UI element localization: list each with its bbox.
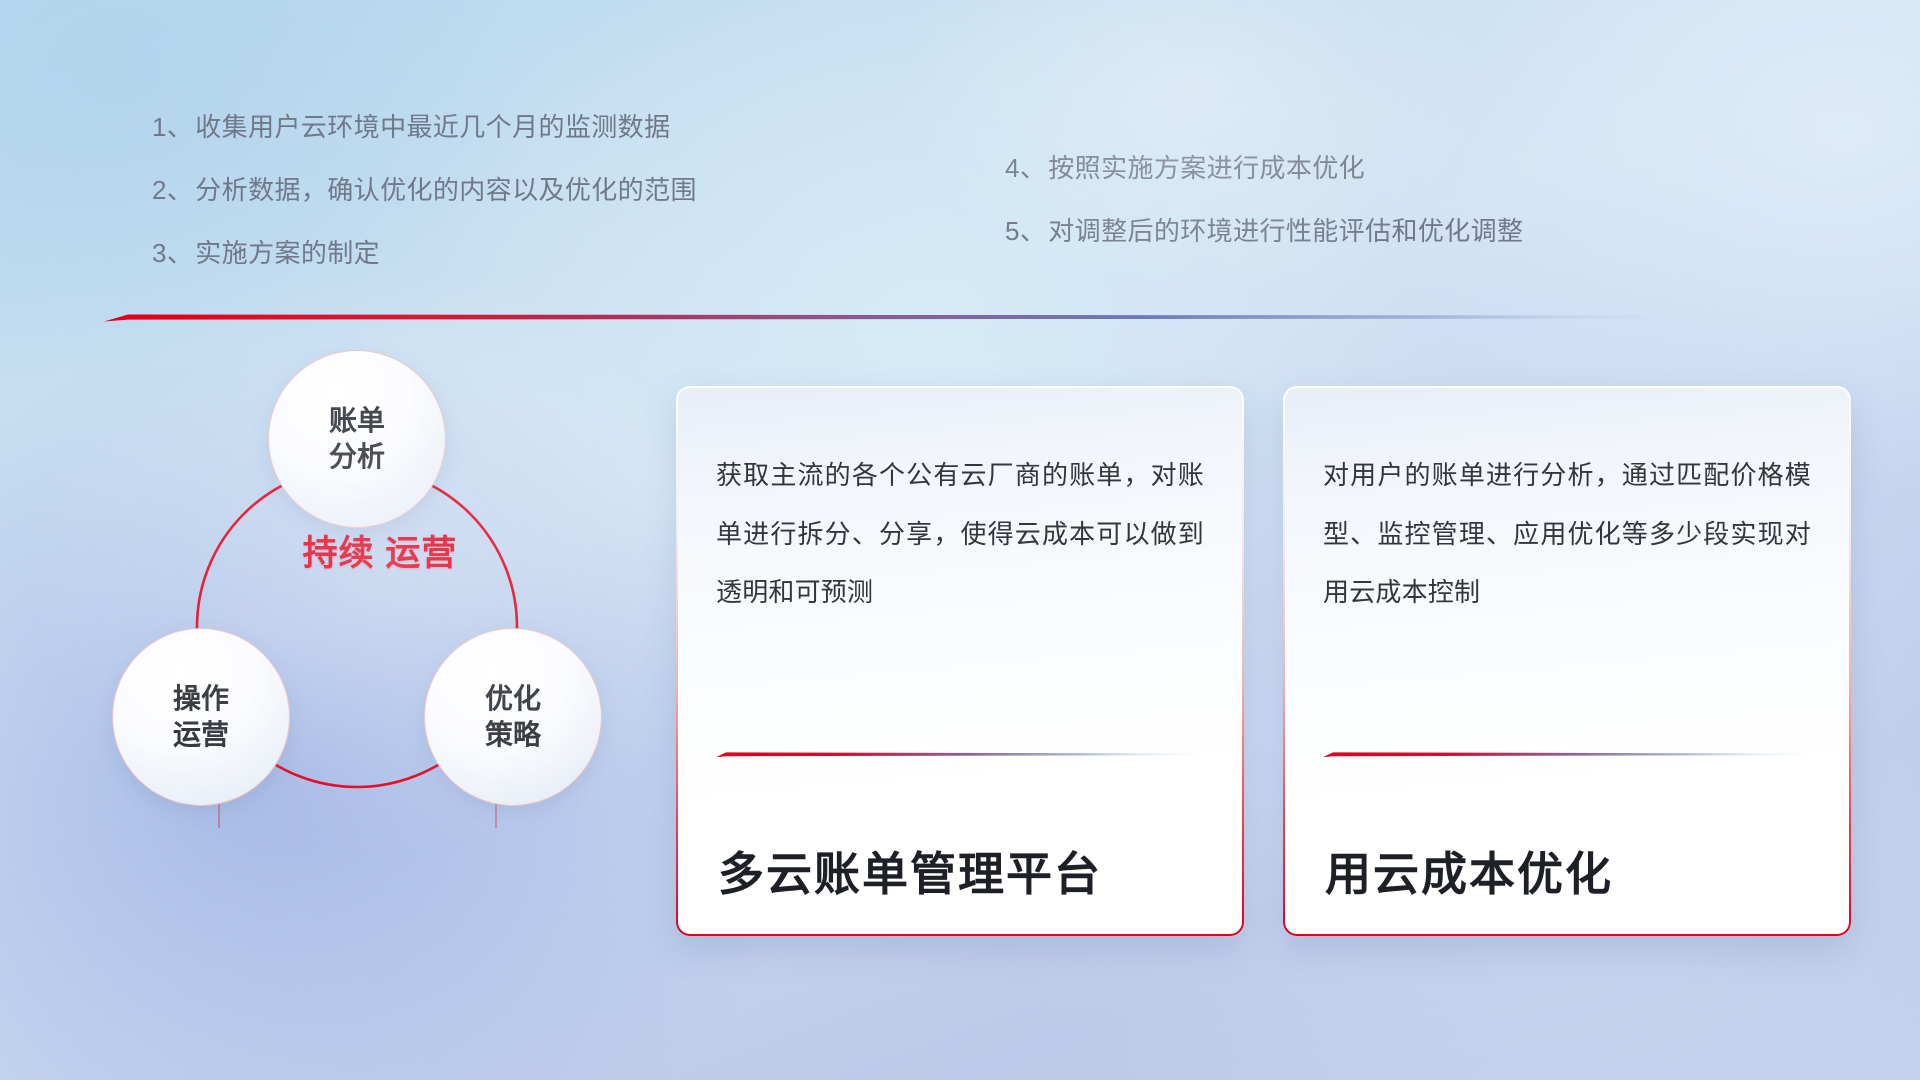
step-number-4: 4、	[1005, 153, 1046, 183]
bubble-optimize-strategy-line-1: 优化	[485, 681, 541, 717]
step-text-4: 按照实施方案进行成本优化	[1048, 153, 1365, 183]
bubble-optimize-strategy[interactable]: 优化 策略	[424, 628, 602, 806]
step-item-5: 5、对调整后的环境进行性能评估和优化调整	[1005, 218, 1523, 244]
continuous-operation-diagram: 持续 运营 账单 分析 操作 运营 优化 策略	[96, 342, 656, 962]
slide-canvas: 1、收集用户云环境中最近几个月的监测数据 2、分析数据，确认优化的内容以及优化的…	[0, 0, 1920, 1080]
section-divider-shape	[104, 310, 1674, 324]
step-number-5: 5、	[1005, 216, 1046, 246]
step-item-3: 3、实施方案的制定	[152, 240, 697, 266]
center-label-line-1: 持续	[303, 534, 375, 573]
step-item-1: 1、收集用户云环境中最近几个月的监测数据	[152, 114, 697, 140]
step-number-2: 2、	[152, 175, 193, 205]
card-2-rule-shape	[1323, 751, 1811, 758]
step-text-5: 对调整后的环境进行性能评估和优化调整	[1048, 216, 1523, 246]
steps-right-column: 4、按照实施方案进行成本优化 5、对调整后的环境进行性能评估和优化调整	[1005, 155, 1523, 281]
step-number-1: 1、	[152, 112, 193, 142]
bubble-operation-running-line-1: 操作	[173, 681, 229, 717]
steps-left-column: 1、收集用户云环境中最近几个月的监测数据 2、分析数据，确认优化的内容以及优化的…	[152, 114, 697, 303]
bubble-bill-analysis[interactable]: 账单 分析	[268, 350, 446, 528]
center-label: 持续 运营	[280, 532, 480, 577]
step-number-3: 3、	[152, 238, 193, 268]
bubble-bill-analysis-line-2: 分析	[329, 439, 385, 475]
section-divider	[104, 310, 1674, 324]
card-2-body: 对用户的账单进行分析，通过匹配价格模型、监控管理、应用优化等多少段实现对用云成本…	[1323, 446, 1811, 622]
card-1-body: 获取主流的各个公有云厂商的账单，对账单进行拆分、分享，使得云成本可以做到透明和可…	[716, 446, 1204, 622]
bubble-bill-analysis-line-1: 账单	[329, 403, 385, 439]
card-cloud-cost-optimization[interactable]: 对用户的账单进行分析，通过匹配价格模型、监控管理、应用优化等多少段实现对用云成本…	[1283, 386, 1851, 936]
card-1-rule	[716, 745, 1204, 752]
card-2-rule	[1323, 745, 1811, 752]
bubble-operation-running-line-2: 运营	[173, 717, 229, 753]
bubble-operation-running[interactable]: 操作 运营	[112, 628, 290, 806]
step-item-4: 4、按照实施方案进行成本优化	[1005, 155, 1523, 181]
bubble-optimize-strategy-line-2: 策略	[485, 717, 541, 753]
card-1-inner: 获取主流的各个公有云厂商的账单，对账单进行拆分、分享，使得云成本可以做到透明和可…	[678, 388, 1242, 934]
card-2-inner: 对用户的账单进行分析，通过匹配价格模型、监控管理、应用优化等多少段实现对用云成本…	[1285, 388, 1849, 934]
step-text-1: 收集用户云环境中最近几个月的监测数据	[195, 112, 670, 142]
step-item-2: 2、分析数据，确认优化的内容以及优化的范围	[152, 177, 697, 203]
step-text-2: 分析数据，确认优化的内容以及优化的范围	[195, 175, 697, 205]
center-label-line-2: 运营	[385, 534, 457, 573]
card-2-title: 用云成本优化	[1323, 752, 1811, 934]
card-multi-cloud-billing-platform[interactable]: 获取主流的各个公有云厂商的账单，对账单进行拆分、分享，使得云成本可以做到透明和可…	[676, 386, 1244, 936]
card-1-rule-shape	[716, 751, 1204, 758]
card-1-title: 多云账单管理平台	[716, 752, 1204, 934]
step-text-3: 实施方案的制定	[195, 238, 380, 268]
